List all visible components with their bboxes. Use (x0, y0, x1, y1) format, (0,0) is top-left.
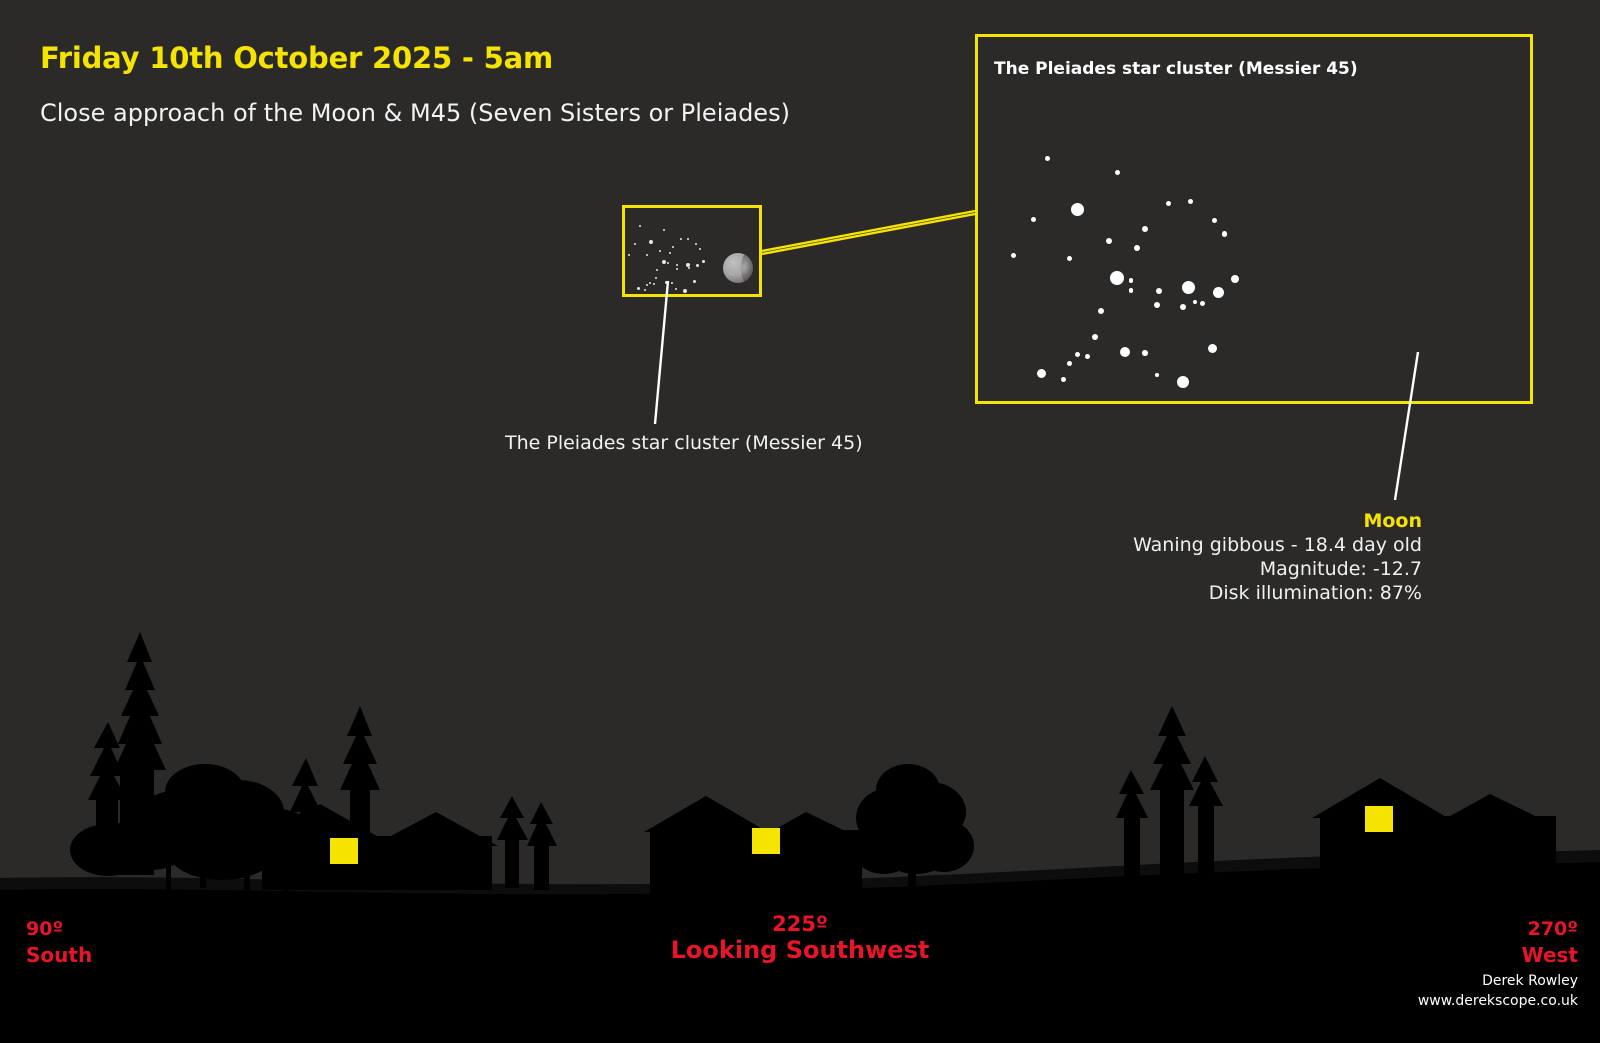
star (1110, 271, 1124, 285)
compass-right-direction: West (1522, 942, 1578, 968)
moon-magnitude: Magnitude: -12.7 (1133, 557, 1422, 581)
star (1142, 226, 1148, 232)
compass-center-direction: Looking Southwest (0, 937, 1600, 963)
star (1155, 373, 1160, 378)
compass-label-west: 270º West (1522, 916, 1578, 968)
star (1213, 287, 1224, 298)
star (1067, 256, 1072, 261)
star (1129, 288, 1133, 292)
sky-chart: Friday 10th October 2025 - 5am Close app… (0, 0, 1600, 1043)
star (1092, 334, 1098, 340)
window-center-house (752, 828, 780, 854)
pleiades-star-field (978, 37, 1530, 401)
page-subtitle: Close approach of the Moon & M45 (Seven … (40, 99, 790, 127)
star (1154, 302, 1160, 308)
star (1177, 376, 1189, 388)
compass-right-degrees: 270º (1522, 916, 1578, 942)
star (1031, 217, 1036, 222)
house-right (1312, 778, 1556, 880)
moon-small (723, 253, 753, 283)
star (1142, 350, 1148, 356)
moon-name: Moon (1133, 509, 1422, 533)
star (1071, 203, 1084, 216)
star (1231, 275, 1239, 283)
star (1075, 352, 1080, 357)
star (1129, 278, 1133, 282)
star (1134, 245, 1140, 251)
star (1208, 344, 1217, 353)
star (1200, 301, 1205, 306)
sky-region-box (622, 205, 762, 297)
window-left-house (330, 838, 358, 864)
star (1037, 369, 1046, 378)
compass-center-degrees: 225º (0, 911, 1600, 937)
moon-info-block: Moon Waning gibbous - 18.4 day old Magni… (1133, 509, 1422, 605)
star (1193, 300, 1197, 304)
star (1106, 238, 1112, 244)
page-title: Friday 10th October 2025 - 5am (40, 41, 553, 75)
window-right-house (1365, 806, 1393, 832)
credit-block: Derek Rowley www.derekscope.co.uk (1418, 971, 1578, 1011)
star (1061, 377, 1066, 382)
star (1212, 218, 1217, 223)
moon-illumination: Disk illumination: 87% (1133, 581, 1422, 605)
star (1166, 201, 1171, 206)
compass-label-southwest: 225º Looking Southwest (0, 911, 1600, 963)
moon-phase: Waning gibbous - 18.4 day old (1133, 533, 1422, 557)
star (1011, 253, 1016, 258)
star (1156, 288, 1162, 294)
credit-website: www.derekscope.co.uk (1418, 991, 1578, 1011)
credit-author: Derek Rowley (1418, 971, 1578, 991)
star (1085, 354, 1090, 359)
star (1045, 156, 1050, 161)
tree-group-right (1116, 706, 1223, 886)
star (1180, 304, 1186, 310)
star (1120, 347, 1130, 357)
star (1115, 170, 1120, 175)
tree-group-left-small (497, 796, 557, 890)
tree-center (852, 764, 974, 892)
star (1222, 231, 1228, 237)
inset-panel: The Pleiades star cluster (Messier 45) (975, 34, 1533, 404)
star (1188, 199, 1193, 204)
star (1098, 308, 1104, 314)
star (1182, 281, 1195, 294)
star (1067, 361, 1072, 366)
pleiades-label: The Pleiades star cluster (Messier 45) (505, 432, 863, 454)
